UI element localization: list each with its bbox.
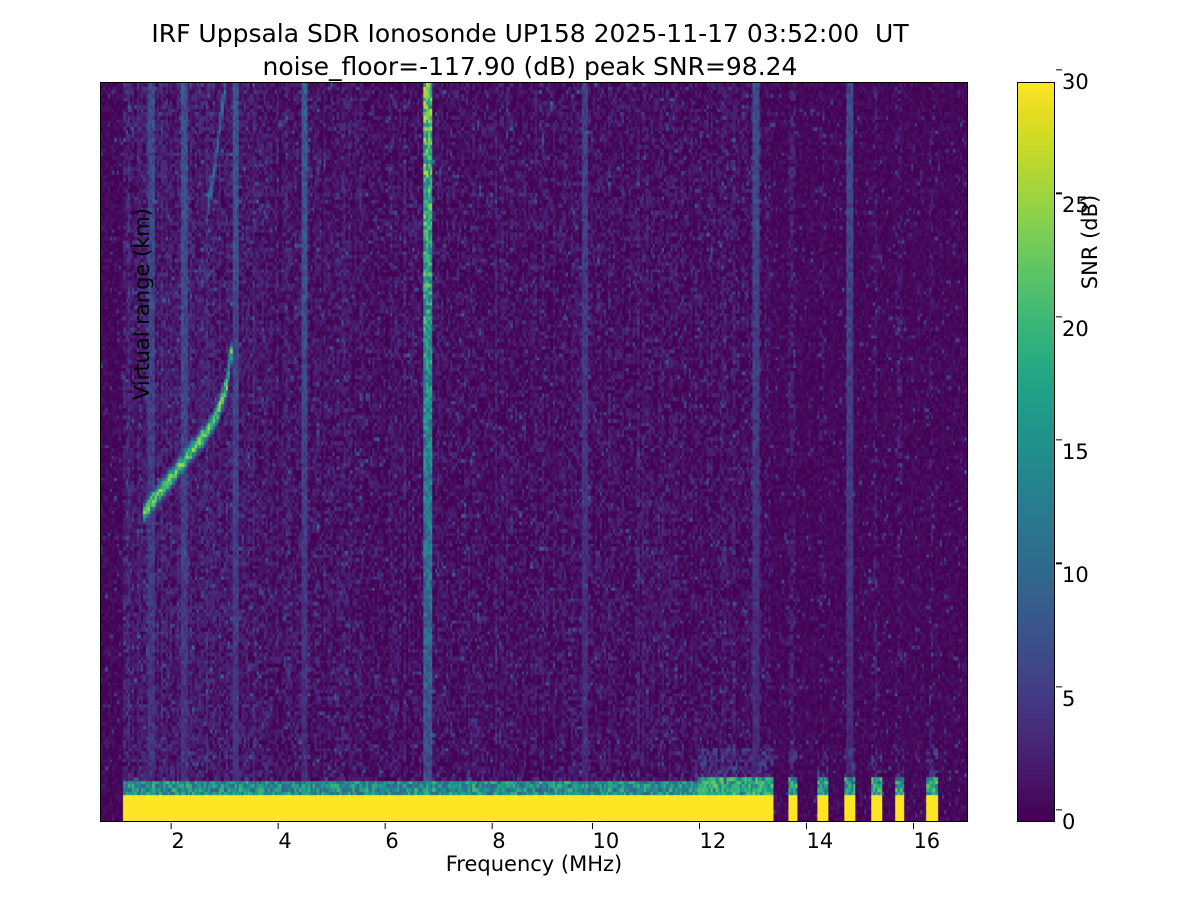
colorbar-tick-label: 30 [1062, 70, 1089, 94]
x-tick-mark [699, 823, 700, 830]
x-tick-label: 6 [385, 829, 398, 853]
x-tick-mark [913, 823, 914, 830]
colorbar-tick-mark [1056, 563, 1063, 564]
colorbar [1017, 82, 1055, 822]
x-tick-mark [492, 823, 493, 830]
colorbar-tick-mark [1056, 809, 1063, 810]
colorbar-tick-mark [1056, 686, 1063, 687]
ionogram-figure: IRF Uppsala SDR Ionosonde UP158 2025-11-… [0, 0, 1200, 900]
x-axis-label: Frequency (MHz) [100, 852, 968, 876]
colorbar-tick-mark [1056, 316, 1063, 317]
x-tick-label: 12 [700, 829, 727, 853]
x-tick-mark [592, 823, 593, 830]
x-tick-label: 4 [278, 829, 291, 853]
colorbar-tick-label: 10 [1062, 563, 1089, 587]
ionogram-axes [100, 82, 968, 822]
y-axis-label: Virtual range (km) [130, 144, 154, 464]
x-tick-mark [385, 823, 386, 830]
colorbar-tick-label: 15 [1062, 440, 1089, 464]
colorbar-tick-mark [1056, 193, 1063, 194]
colorbar-tick-mark [1056, 439, 1063, 440]
colorbar-tick-label: 5 [1062, 687, 1075, 711]
ionogram-heatmap [101, 83, 967, 821]
x-tick-label: 8 [492, 829, 505, 853]
title-line-1: IRF Uppsala SDR Ionosonde UP158 2025-11-… [0, 18, 1060, 51]
colorbar-gradient [1018, 83, 1054, 821]
colorbar-tick-mark [1056, 69, 1063, 70]
colorbar-label: SNR (dB) [1078, 112, 1102, 372]
x-tick-mark [171, 823, 172, 830]
x-tick-label: 14 [806, 829, 833, 853]
x-tick-label: 16 [913, 829, 940, 853]
x-tick-mark [806, 823, 807, 830]
colorbar-tick-label: 0 [1062, 810, 1075, 834]
title-line-2: noise_floor=-117.90 (dB) peak SNR=98.24 [0, 51, 1060, 84]
x-tick-label: 2 [171, 829, 184, 853]
figure-title: IRF Uppsala SDR Ionosonde UP158 2025-11-… [0, 18, 1060, 83]
x-tick-label: 10 [593, 829, 620, 853]
x-tick-mark [278, 823, 279, 830]
